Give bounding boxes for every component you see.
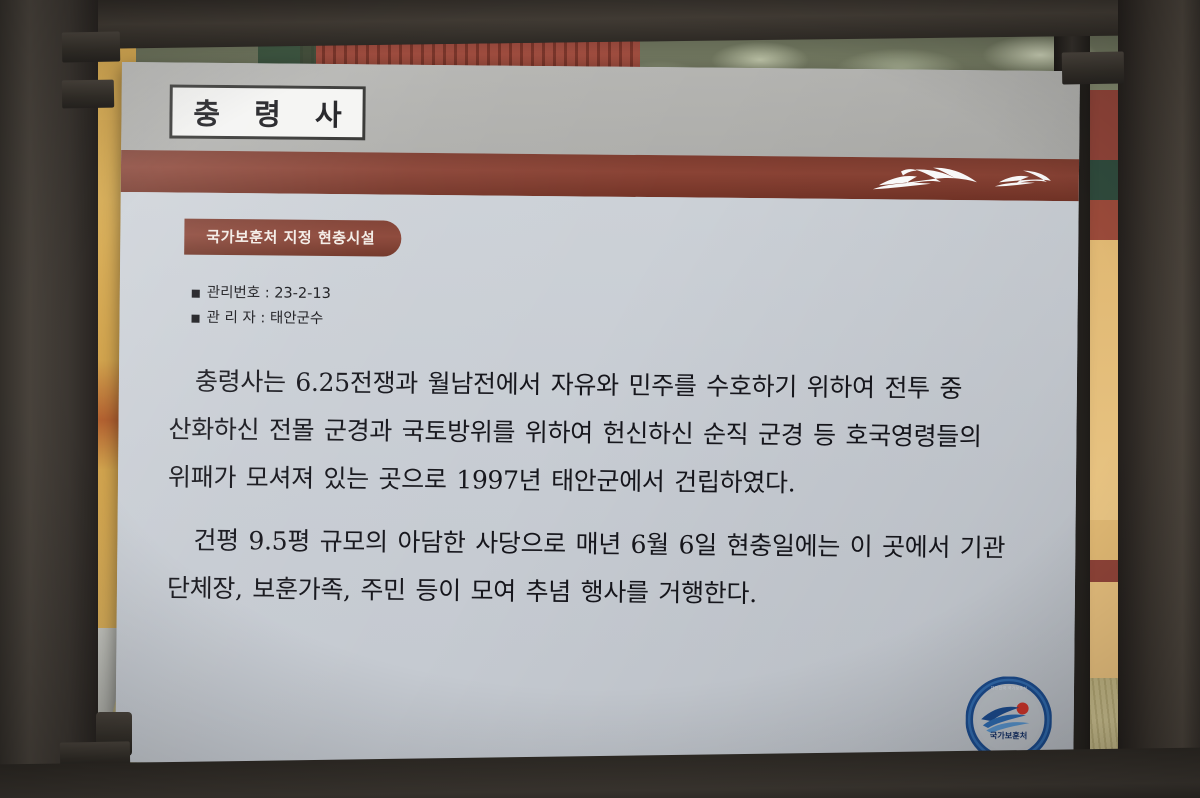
memorial-sign-panel: 충 령 사 국가보훈처 지정 현충시설 관리번호 : 23-2-13 xyxy=(115,62,1080,771)
management-number-text: 관리번호 : 23-2-13 xyxy=(207,281,331,308)
cloud-motif-icon-small xyxy=(995,164,1053,191)
frame-bracket-top-left-2 xyxy=(62,80,114,109)
frame-post-left xyxy=(0,0,98,798)
paragraph-line: 충령사는 6.25전쟁과 월남전에서 자유와 민주를 수호하기 위하여 전투 중 xyxy=(169,366,962,403)
frame-post-right xyxy=(1118,0,1200,798)
frame-bracket-top-left xyxy=(62,31,121,62)
body-paragraph-2: 건평 9.5평 규모의 아담한 사당으로 매년 6월 6일 현충일에는 이 곳에… xyxy=(167,516,1032,621)
cloud-motif-icon xyxy=(871,163,983,194)
paragraph-line: 단체장, 보훈가족, 주민 등이 모여 추념 행사를 거행한다. xyxy=(167,573,757,608)
frame-bracket-top-right xyxy=(1062,51,1125,84)
body-paragraph-1: 충령사는 6.25전쟁과 월남전에서 자유와 민주를 수호하기 위하여 전투 중… xyxy=(168,357,1033,510)
svg-text:국가보훈처: 국가보훈처 xyxy=(990,730,1028,740)
manager-text: 관 리 자 : 태안군수 xyxy=(206,306,323,332)
sign-metadata-list: 관리번호 : 23-2-13 관 리 자 : 태안군수 xyxy=(191,281,1033,340)
sign-title-box: 충 령 사 xyxy=(169,84,366,140)
sign-body: 국가보훈처 지정 현충시설 관리번호 : 23-2-13 관 리 자 : 태안군… xyxy=(115,192,1078,771)
status-badge: 국가보훈처 지정 현충시설 xyxy=(184,219,401,257)
photo-scene: 충 령 사 국가보훈처 지정 현충시설 관리번호 : 23-2-13 xyxy=(0,0,1200,798)
svg-text:대한민국 국가보훈처: 대한민국 국가보훈처 xyxy=(991,685,1028,690)
paragraph-line: 산화하신 전몰 군경과 국토방위를 위하여 헌신하신 순직 군경 등 호국영령들… xyxy=(168,414,981,451)
paragraph-line: 건평 9.5평 규모의 아담한 사당으로 매년 6월 6일 현충일에는 이 곳에… xyxy=(167,525,1005,562)
square-bullet-icon xyxy=(192,315,200,323)
paragraph-line: 위패가 모셔져 있는 곳으로 1997년 태안군에서 건립하였다. xyxy=(168,463,796,498)
square-bullet-icon xyxy=(192,289,200,297)
page-title: 충 령 사 xyxy=(181,91,354,135)
sign-header-strip: 충 령 사 xyxy=(121,62,1080,159)
